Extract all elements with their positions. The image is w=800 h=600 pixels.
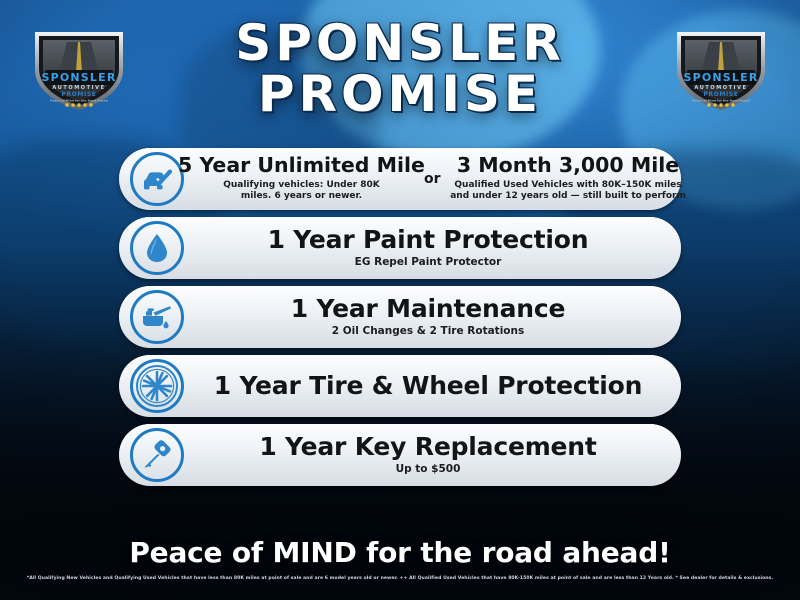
benefit-option-new: 5 Year Unlimited Mile Qualifying vehicle… — [189, 155, 414, 202]
oil-can-icon — [130, 290, 184, 344]
svg-text:SPONSLER: SPONSLER — [41, 71, 116, 84]
benefits-list: 5 Year Unlimited Mile Qualifying vehicle… — [0, 148, 800, 493]
svg-text:PROMISE: PROMISE — [62, 91, 97, 98]
benefit-title: 5 Year Unlimited Mile — [178, 155, 425, 177]
benefit-body: 1 Year Key Replacement Up to $500 — [185, 434, 667, 475]
car-key-icon — [130, 428, 184, 482]
benefit-title: 1 Year Tire & Wheel Protection — [214, 373, 643, 399]
benefit-body: 1 Year Maintenance 2 Oil Changes & 2 Tir… — [185, 296, 667, 337]
benefit-split: 5 Year Unlimited Mile Qualifying vehicle… — [189, 155, 686, 202]
benefit-row-key-replacement[interactable]: 1 Year Key Replacement Up to $500 — [119, 424, 681, 486]
benefit-body: 1 Year Paint Protection EG Repel Paint P… — [185, 227, 667, 268]
benefit-icon-holder — [129, 220, 185, 276]
benefit-subtitle: EG Repel Paint Protector — [355, 256, 502, 268]
sponsler-shield-logo-icon: SPONSLER AUTOMOTIVE PROMISE Peace of Min… — [669, 26, 773, 112]
logo-right: SPONSLER AUTOMOTIVE PROMISE Peace of Min… — [669, 26, 773, 112]
benefit-icon-holder — [129, 358, 185, 414]
benefit-row-paint-protection[interactable]: 1 Year Paint Protection EG Repel Paint P… — [119, 217, 681, 279]
benefit-subtitle-line-2: and under 12 years old — still built to … — [450, 191, 686, 202]
benefit-subtitle: 2 Oil Changes & 2 Tire Rotations — [332, 325, 524, 337]
svg-text:Peace of Mind for the Road Ahe: Peace of Mind for the Road Ahead — [692, 99, 750, 103]
benefit-subtitle-line-2: miles. 6 years or newer. — [241, 191, 362, 202]
benefit-row-maintenance[interactable]: 1 Year Maintenance 2 Oil Changes & 2 Tir… — [119, 286, 681, 348]
header: SPONSLER AUTOMOTIVE PROMISE Peace of Min… — [0, 0, 800, 130]
benefit-title: 1 Year Paint Protection — [268, 227, 589, 253]
car-checkmark-icon — [130, 152, 184, 206]
benefit-icon-holder — [129, 289, 185, 345]
tire-wheel-icon — [130, 359, 184, 413]
benefit-or-separator: or — [414, 171, 451, 187]
brand-line-1: SPONSLER — [235, 19, 565, 68]
benefit-body: 1 Year Tire & Wheel Protection — [185, 373, 667, 399]
benefit-title: 1 Year Key Replacement — [259, 434, 596, 460]
sponsler-shield-logo-icon: SPONSLER AUTOMOTIVE PROMISE Peace of Min… — [27, 26, 131, 112]
brand-title: SPONSLER PROMISE — [140, 14, 660, 124]
svg-text:Peace of Mind for the Road Ahe: Peace of Mind for the Road Ahead — [50, 99, 108, 103]
logo-left: SPONSLER AUTOMOTIVE PROMISE Peace of Min… — [27, 26, 131, 112]
benefit-row-unlimited-mile[interactable]: 5 Year Unlimited Mile Qualifying vehicle… — [119, 148, 681, 210]
tagline: Peace of MIND for the road ahead! — [0, 536, 800, 569]
benefit-body: 5 Year Unlimited Mile Qualifying vehicle… — [185, 155, 686, 202]
benefit-title: 3 Month 3,000 Mile — [457, 155, 679, 177]
water-droplet-icon — [130, 221, 184, 275]
benefit-subtitle-line-1: Qualifying vehicles: Under 80K — [223, 180, 380, 191]
benefit-row-tire-wheel-protection[interactable]: 1 Year Tire & Wheel Protection — [119, 355, 681, 417]
benefit-icon-holder — [129, 151, 185, 207]
benefit-subtitle-line-1: Qualified Used Vehicles with 80K–150K mi… — [454, 180, 681, 191]
benefit-title: 1 Year Maintenance — [291, 296, 565, 322]
brand-line-2: PROMISE — [258, 70, 542, 119]
disclaimer-text: *All Qualifying New Vehicles and Qualify… — [0, 576, 800, 582]
benefit-subtitle: Up to $500 — [396, 463, 461, 475]
benefit-icon-holder — [129, 427, 185, 483]
benefit-option-used: 3 Month 3,000 Mile Qualified Used Vehicl… — [451, 155, 686, 202]
svg-text:PROMISE: PROMISE — [704, 91, 739, 98]
svg-text:SPONSLER: SPONSLER — [683, 71, 758, 84]
